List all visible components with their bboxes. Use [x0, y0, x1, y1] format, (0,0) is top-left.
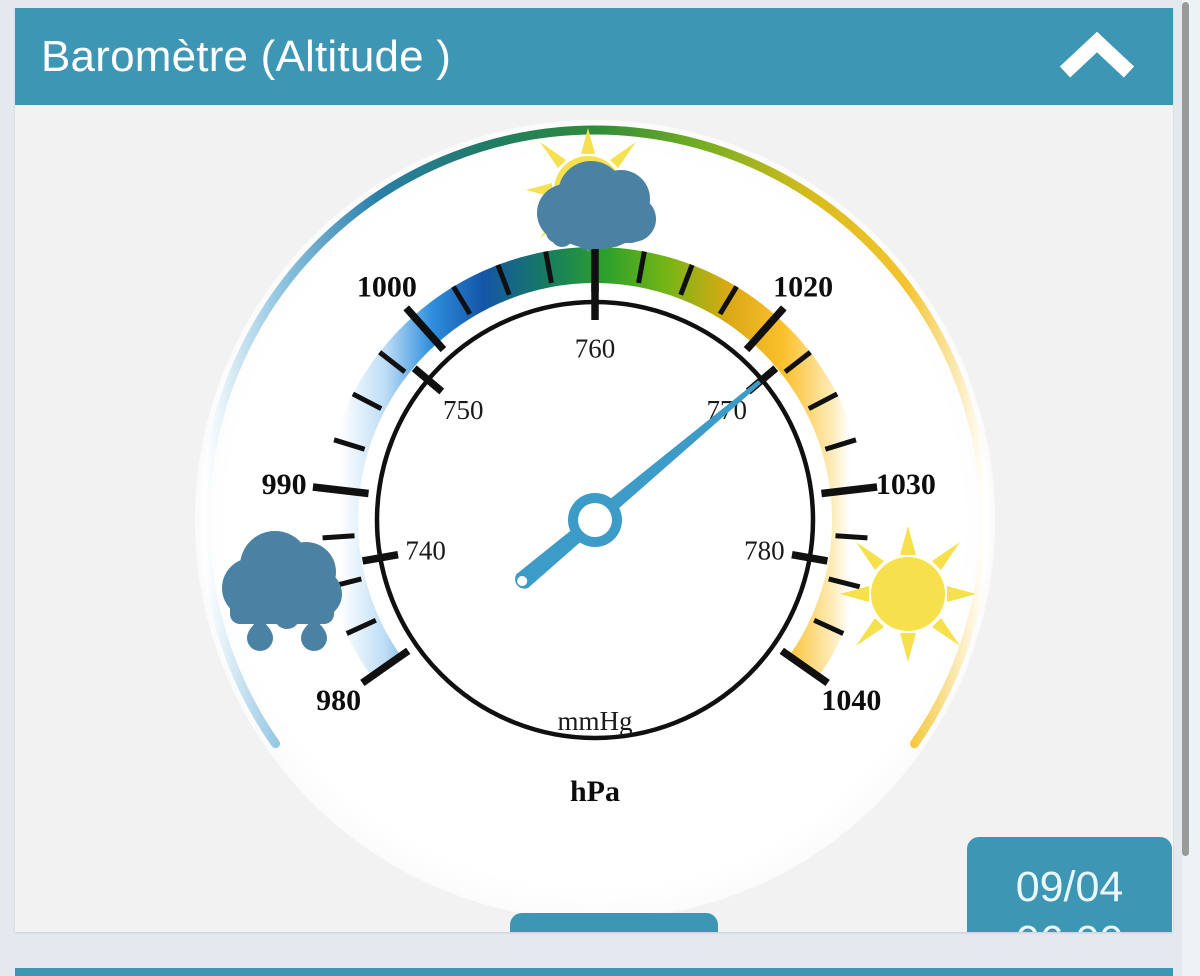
svg-text:980: 980: [316, 684, 361, 717]
svg-text:1040: 1040: [821, 684, 881, 717]
barometer-card: Baromètre (Altitude ): [15, 8, 1173, 932]
svg-text:1020: 1020: [773, 271, 833, 304]
time-text: 06:00: [1016, 915, 1124, 932]
sun-icon: [840, 526, 976, 662]
unit-hpa-label: hPa: [570, 775, 620, 808]
svg-text:750: 750: [443, 395, 484, 425]
card-header[interactable]: Baromètre (Altitude ): [15, 8, 1173, 105]
svg-text:1000: 1000: [357, 271, 417, 304]
page-title: Baromètre (Altitude ): [41, 32, 451, 82]
svg-text:740: 740: [405, 535, 446, 565]
svg-text:760: 760: [575, 333, 616, 363]
datetime-badge[interactable]: 09/04 06:00: [967, 837, 1172, 932]
date-text: 09/04: [1016, 861, 1124, 915]
svg-text:990: 990: [262, 468, 307, 501]
next-card-header-peek[interactable]: [15, 968, 1173, 976]
card-body: 98099010001010102010301040 7407507607707…: [15, 105, 1173, 932]
gauge-container[interactable]: 98099010001010102010301040 7407507607707…: [15, 105, 1173, 932]
barometer-gauge: 98099010001010102010301040 7407507607707…: [15, 105, 1173, 932]
unit-mmhg-label: mmHg: [557, 706, 632, 736]
scrollbar-thumb[interactable]: [1182, 2, 1189, 856]
scrollbar-track[interactable]: [1182, 0, 1200, 976]
pressure-value-badge[interactable]: 1022hPa: [510, 913, 718, 932]
collapse-button[interactable]: [1057, 29, 1137, 85]
chevron-up-icon: [1059, 32, 1135, 82]
svg-text:1030: 1030: [876, 468, 936, 501]
svg-text:780: 780: [744, 535, 785, 565]
